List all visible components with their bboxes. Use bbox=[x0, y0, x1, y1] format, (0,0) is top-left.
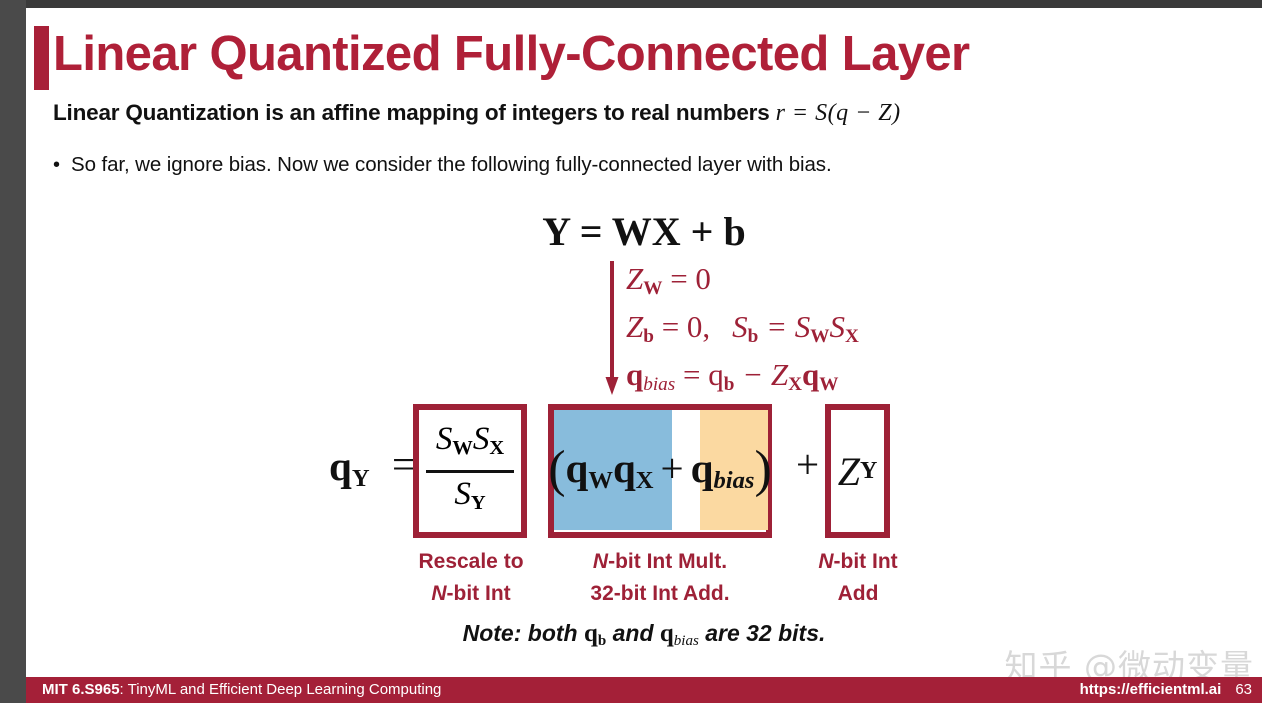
quantized-formula: qY = SWSX SY (qWqX+qbias) + ZY bbox=[26, 404, 1262, 538]
window-gutter-top bbox=[0, 0, 1262, 8]
outer-plus: + bbox=[796, 440, 819, 488]
scale-fraction: SWSX SY bbox=[413, 404, 527, 538]
annot-sb-value: = S bbox=[766, 309, 810, 344]
annot-qw-var: q bbox=[802, 357, 819, 392]
caption-mult-line1: N-bit Int Mult. bbox=[552, 546, 768, 578]
inner-plus: + bbox=[654, 445, 691, 491]
main-equation: Y = WX + b bbox=[26, 208, 1262, 255]
note-middle: and bbox=[613, 620, 654, 646]
frac-s1: S bbox=[436, 421, 453, 457]
zy-sub: Y bbox=[860, 458, 877, 485]
note-qbias-sub: bias bbox=[674, 633, 699, 649]
note-qbias: qbias bbox=[660, 620, 699, 647]
qw-term: q bbox=[566, 445, 589, 491]
qx-term: q bbox=[613, 445, 636, 491]
caption-mult-rest: -bit Int Mult. bbox=[608, 550, 727, 573]
annot-qb-sub: b bbox=[724, 373, 735, 394]
footer-course-info: MIT 6.S965: TinyML and Efficient Deep Le… bbox=[42, 681, 441, 698]
main-equation-text: Y = WX + b bbox=[542, 209, 745, 254]
annot-sb-sub2: W bbox=[810, 326, 829, 347]
caption-add-line2: Add bbox=[802, 578, 914, 610]
subtitle-text: Linear Quantization is an affine mapping… bbox=[53, 100, 770, 125]
slide-footer: MIT 6.S965: TinyML and Efficient Deep Le… bbox=[26, 677, 1262, 703]
note-qbias-var: q bbox=[660, 620, 674, 647]
annot-zw-sub: W bbox=[643, 278, 662, 299]
frac-s2: S bbox=[473, 421, 490, 457]
fraction-numerator: SWSX bbox=[436, 420, 504, 467]
footer-page-number: 63 bbox=[1235, 681, 1252, 698]
frac-s2-sub: X bbox=[489, 438, 504, 460]
annot-qbias-value: = q bbox=[683, 357, 724, 392]
annot-qbias-var: q bbox=[626, 357, 643, 392]
caption-mult: N-bit Int Mult. 32-bit Int Add. bbox=[552, 546, 768, 610]
formula-equals: = bbox=[392, 440, 415, 488]
annot-zw-var: Z bbox=[626, 261, 643, 296]
caption-add-n: N bbox=[818, 550, 833, 573]
formula-lhs: qY bbox=[329, 442, 370, 493]
note-qb: qb bbox=[584, 620, 606, 647]
annot-sb-sub3: X bbox=[845, 326, 859, 347]
caption-mult-line2: 32-bit Int Add. bbox=[552, 578, 768, 610]
note-qb-var: q bbox=[584, 620, 598, 647]
slide-canvas: Linear Quantized Fully-Connected Layer L… bbox=[26, 8, 1262, 703]
close-paren: ) bbox=[754, 441, 771, 498]
qbias-sub: bias bbox=[713, 467, 754, 494]
annot-zb-value: = 0, bbox=[662, 309, 710, 344]
subtitle-formula: r = S(q − Z) bbox=[776, 100, 901, 126]
title-accent-bar bbox=[34, 26, 49, 90]
caption-mult-n: N bbox=[593, 550, 608, 573]
annot-zb-var: Z bbox=[626, 309, 643, 344]
caption-rescale: Rescale to N-bit Int bbox=[396, 546, 546, 610]
annot-qbias-sub: bias bbox=[643, 373, 675, 394]
annot-sb-var: S bbox=[732, 309, 748, 344]
caption-rescale-line2: N-bit Int bbox=[396, 578, 546, 610]
window-gutter-left bbox=[0, 0, 26, 703]
caption-add-line1: N-bit Int bbox=[802, 546, 914, 578]
caption-rescale-line1: Rescale to bbox=[396, 546, 546, 578]
annot-qw-sub: W bbox=[819, 373, 838, 394]
annot-qbias-value2: − Z bbox=[742, 357, 788, 392]
frac-den-sub: Y bbox=[471, 492, 486, 514]
note-qb-sub: b bbox=[598, 633, 606, 649]
bullet-dot-icon: • bbox=[53, 152, 71, 178]
annotation-line-2: Zb = 0,Sb = SWSX bbox=[626, 308, 859, 356]
caption-add: N-bit Int Add bbox=[802, 546, 914, 610]
annotation-line-3: qbias = qb − ZXqW bbox=[626, 356, 859, 404]
bullet-text: So far, we ignore bias. Now we consider … bbox=[71, 152, 832, 178]
footer-url-link[interactable]: https://efficientml.ai bbox=[1080, 681, 1222, 698]
annotation-line-1: ZW = 0 bbox=[626, 260, 859, 308]
qw-sub: W bbox=[588, 467, 613, 494]
zy-term: ZY bbox=[825, 404, 890, 538]
zy-var: Z bbox=[838, 448, 860, 495]
formula-lhs-var: q bbox=[329, 443, 352, 489]
mult-add-expression: (qWqX+qbias) bbox=[532, 440, 788, 499]
formula-lhs-sub: Y bbox=[352, 465, 370, 492]
annot-zw-value: = 0 bbox=[670, 261, 711, 296]
note-prefix: Note: both bbox=[463, 620, 578, 646]
frac-den-s: S bbox=[454, 476, 471, 512]
bullet-list-item: • So far, we ignore bias. Now we conside… bbox=[53, 152, 1203, 178]
slide-root: Linear Quantized Fully-Connected Layer L… bbox=[0, 0, 1262, 703]
annot-zb-sub: b bbox=[643, 326, 654, 347]
page-title: Linear Quantized Fully-Connected Layer bbox=[53, 28, 970, 81]
qx-sub: X bbox=[636, 467, 654, 494]
fraction-bar bbox=[426, 470, 514, 473]
caption-rescale-n: N bbox=[431, 582, 446, 605]
box-captions: Rescale to N-bit Int N-bit Int Mult. 32-… bbox=[26, 546, 1262, 610]
frac-s1-sub: W bbox=[452, 438, 472, 460]
open-paren: ( bbox=[548, 441, 565, 498]
down-arrow-icon bbox=[605, 261, 619, 396]
caption-add-rest: -bit Int bbox=[834, 550, 898, 573]
note-suffix: are 32 bits. bbox=[705, 620, 825, 646]
qbias-term: q bbox=[691, 445, 714, 491]
quantization-annotations: ZW = 0 Zb = 0,Sb = SWSX qbias = qb − ZXq… bbox=[626, 260, 859, 403]
subtitle: Linear Quantization is an affine mapping… bbox=[53, 100, 901, 127]
footer-course-title: : TinyML and Efficient Deep Learning Com… bbox=[120, 681, 442, 698]
annot-zx-sub: X bbox=[788, 373, 802, 394]
annot-sb-value2: S bbox=[829, 309, 845, 344]
annot-sb-sub: b bbox=[748, 326, 759, 347]
footer-course-code: MIT 6.S965 bbox=[42, 681, 120, 698]
fraction-denominator: SY bbox=[454, 475, 485, 522]
caption-rescale-rest: -bit Int bbox=[447, 582, 511, 605]
footer-meta: https://efficientml.ai63 bbox=[1080, 681, 1252, 698]
